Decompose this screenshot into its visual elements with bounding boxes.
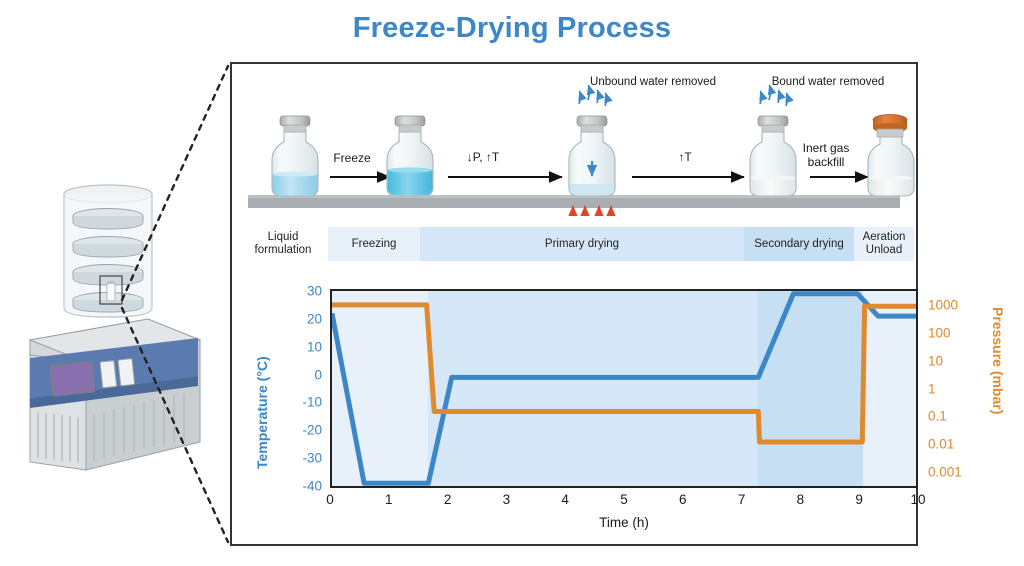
y2-tick: 0.001 bbox=[928, 465, 962, 480]
y2-tick: 0.1 bbox=[928, 409, 947, 424]
process-chart: Temperature (°C) 3020100-10-20-30-40 Pre… bbox=[330, 289, 918, 488]
label-arrow-backfill: Inert gas backfill bbox=[793, 141, 859, 169]
caption-bound-water: Bound water removed bbox=[769, 76, 887, 89]
label-arrow-freeze: Freeze bbox=[317, 151, 387, 165]
x-tick: 6 bbox=[679, 492, 687, 507]
phase-segment-freezing: Freezing bbox=[328, 227, 420, 261]
temperature-curve bbox=[332, 294, 916, 483]
y-tick: 0 bbox=[314, 367, 322, 382]
chart-curves bbox=[332, 291, 916, 486]
y2-axis-ticks: 10001001010.10.010.001 bbox=[928, 289, 984, 488]
vial-frozen bbox=[387, 116, 433, 196]
dryer-body bbox=[30, 319, 200, 470]
x-tick: 9 bbox=[855, 492, 863, 507]
x-tick: 1 bbox=[385, 492, 393, 507]
y2-axis-label: Pressure (mbar) bbox=[990, 307, 1006, 467]
label-arrow-heat: ↑T bbox=[660, 150, 710, 164]
caption-unbound-water: Unbound water removed bbox=[588, 76, 718, 89]
page-title: Freeze-Drying Process bbox=[0, 12, 1024, 45]
x-tick: 3 bbox=[503, 492, 511, 507]
y2-tick: 1 bbox=[928, 381, 936, 396]
phase-segment-secondary-drying: Secondary drying bbox=[744, 227, 854, 261]
y-tick: -40 bbox=[302, 479, 322, 494]
phase-label: Primary drying bbox=[545, 238, 619, 251]
x-tick: 10 bbox=[910, 492, 925, 507]
display-screen bbox=[50, 362, 95, 396]
vial-desorbed bbox=[750, 85, 796, 196]
y2-tick: 100 bbox=[928, 325, 951, 340]
y-tick: -30 bbox=[302, 451, 322, 466]
drying-chamber bbox=[64, 185, 152, 317]
phase-label: Freezing bbox=[352, 238, 397, 251]
chart-plot-area bbox=[330, 289, 918, 488]
pressure-curve bbox=[332, 305, 916, 442]
phase-label: Aeration Unload bbox=[854, 231, 914, 257]
y-tick: -10 bbox=[302, 395, 322, 410]
x-tick: 8 bbox=[797, 492, 805, 507]
phase-bar: Liquid formulation Freezing Primary dryi… bbox=[238, 227, 914, 261]
y2-tick: 10 bbox=[928, 353, 943, 368]
y-axis-ticks: 3020100-10-20-30-40 bbox=[288, 289, 322, 488]
control-button-2 bbox=[118, 359, 135, 386]
x-tick: 0 bbox=[326, 492, 334, 507]
control-button-1 bbox=[100, 361, 117, 388]
phase-label: Secondary drying bbox=[754, 238, 844, 251]
x-tick: 5 bbox=[620, 492, 628, 507]
vial-liquid bbox=[272, 116, 318, 196]
y-axis-label: Temperature (°C) bbox=[254, 309, 270, 469]
y-tick: -20 bbox=[302, 423, 322, 438]
phase-segment-primary-drying: Primary drying bbox=[420, 227, 744, 261]
x-tick: 7 bbox=[738, 492, 746, 507]
x-axis-label: Time (h) bbox=[330, 515, 918, 530]
freeze-dryer-illustration bbox=[8, 180, 208, 480]
phase-segment-aeration-unload: Aeration Unload bbox=[854, 227, 914, 261]
vial-sealed bbox=[868, 115, 914, 197]
phase-label: Liquid formulation bbox=[238, 231, 328, 257]
x-tick: 4 bbox=[561, 492, 569, 507]
y-tick: 30 bbox=[307, 284, 322, 299]
x-tick: 2 bbox=[444, 492, 452, 507]
x-axis-ticks: 012345678910 bbox=[330, 492, 918, 510]
y-tick: 10 bbox=[307, 339, 322, 354]
phase-segment-liquid-formulation: Liquid formulation bbox=[238, 227, 328, 261]
y-tick: 20 bbox=[307, 311, 322, 326]
y2-tick: 0.01 bbox=[928, 437, 954, 452]
label-arrow-vacuum: ↓P, ↑T bbox=[448, 150, 518, 164]
y2-tick: 1000 bbox=[928, 297, 958, 312]
